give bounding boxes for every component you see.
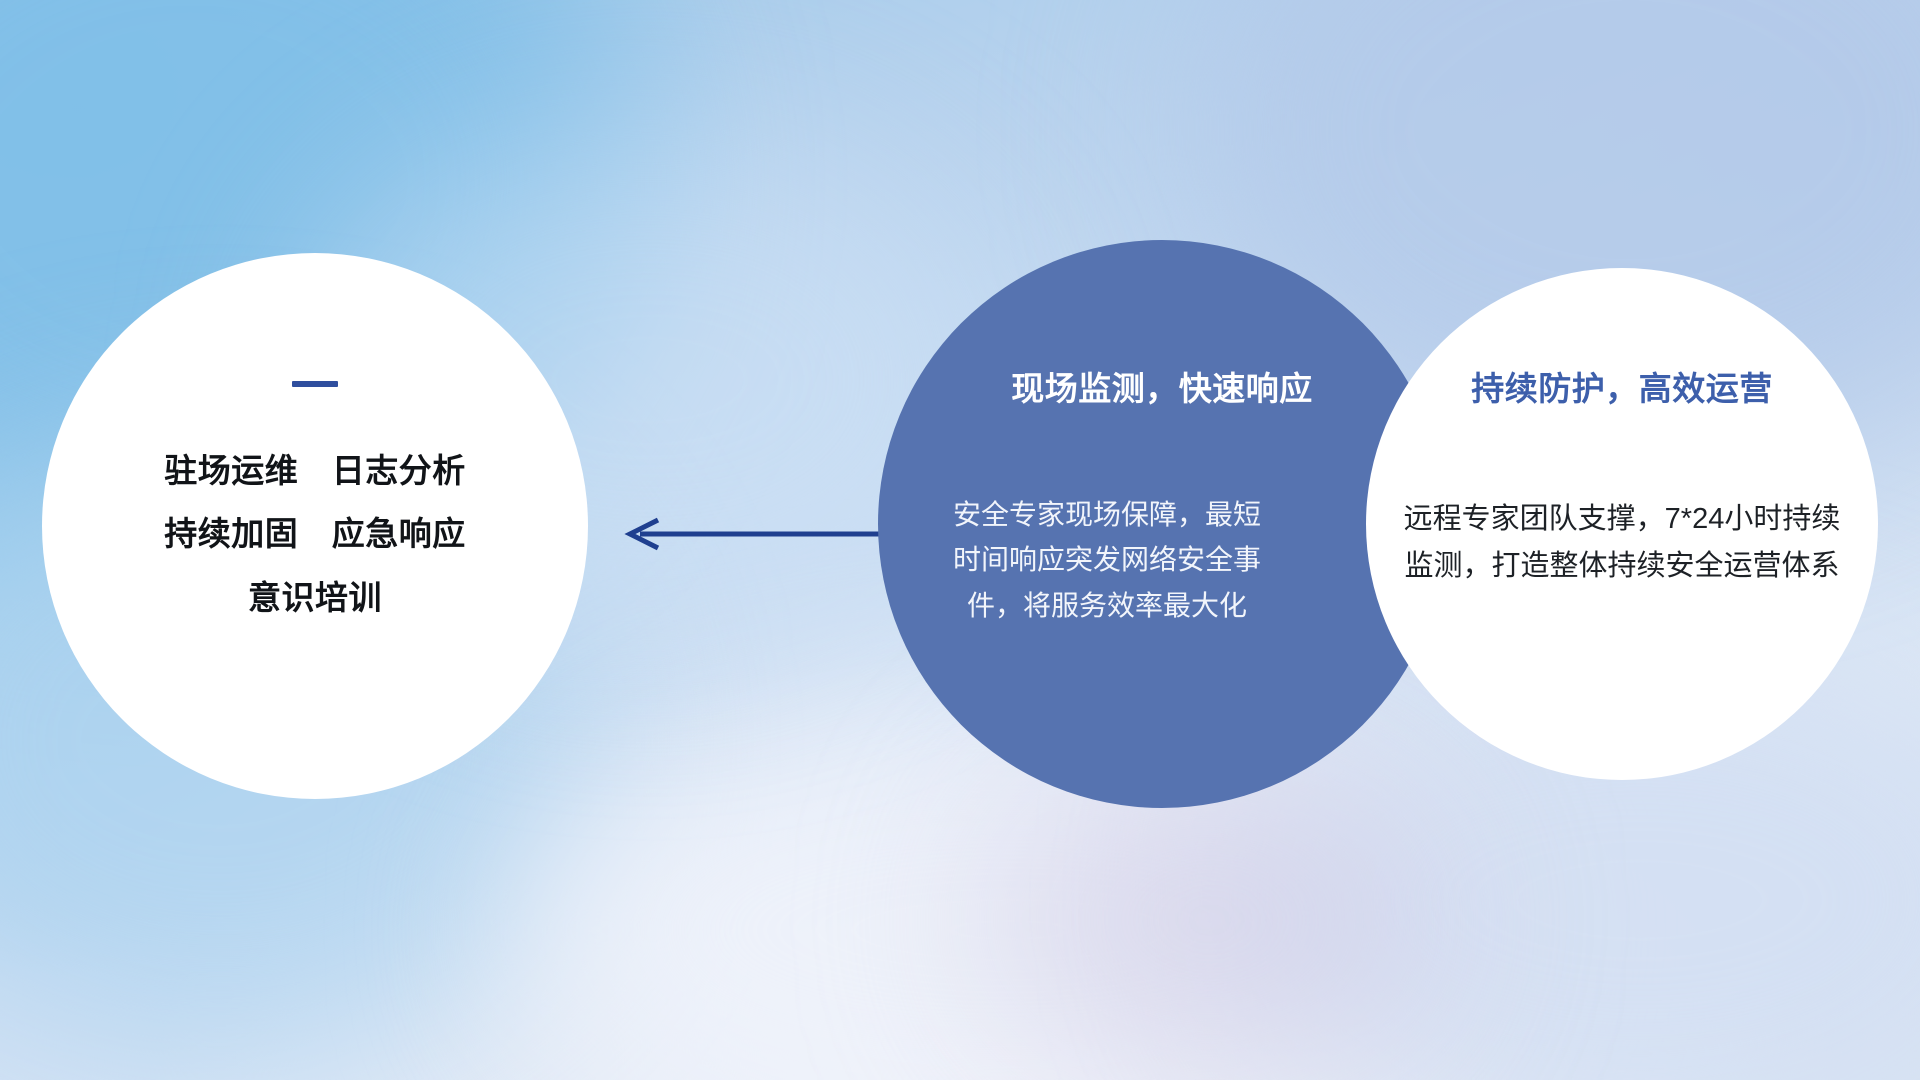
- continuous-protection-title: 持续防护，高效运营: [1366, 362, 1878, 410]
- list-item: 驻场运维 日志分析: [42, 439, 588, 502]
- arrow-left-icon: [606, 516, 898, 552]
- onsite-monitoring-content: 现场监测，快速响应 安全专家现场保障，最短时间响应突发网络安全事件，将服务效率最…: [878, 240, 1446, 808]
- onsite-monitoring-title: 现场监测，快速响应: [878, 362, 1446, 410]
- service-scope-circle: 驻场运维 日志分析 持续加固 应急响应 意识培训: [42, 253, 588, 799]
- background-blob-violet: [980, 760, 1440, 1080]
- onsite-monitoring-circle: 现场监测，快速响应 安全专家现场保障，最短时间响应突发网络安全事件，将服务效率最…: [878, 240, 1446, 808]
- continuous-protection-circle: 持续防护，高效运营 远程专家团队支撑，7*24小时持续监测，打造整体持续安全运营…: [1366, 268, 1878, 780]
- service-scope-content: 驻场运维 日志分析 持续加固 应急响应 意识培训: [42, 381, 588, 629]
- continuous-protection-content: 持续防护，高效运营 远程专家团队支撑，7*24小时持续监测，打造整体持续安全运营…: [1366, 268, 1878, 780]
- continuous-protection-body: 远程专家团队支撑，7*24小时持续监测，打造整体持续安全运营体系: [1394, 496, 1850, 590]
- slide-canvas: 驻场运维 日志分析 持续加固 应急响应 意识培训 现场监测，快速响应 安全专家现…: [0, 0, 1920, 1080]
- service-scope-tag-list: 驻场运维 日志分析 持续加固 应急响应 意识培训: [42, 439, 588, 629]
- list-item: 持续加固 应急响应: [42, 502, 588, 565]
- list-item: 意识培训: [42, 566, 588, 629]
- onsite-monitoring-body: 安全专家现场保障，最短时间响应突发网络安全事件，将服务效率最大化: [944, 492, 1270, 628]
- dash-divider-icon: [292, 381, 338, 387]
